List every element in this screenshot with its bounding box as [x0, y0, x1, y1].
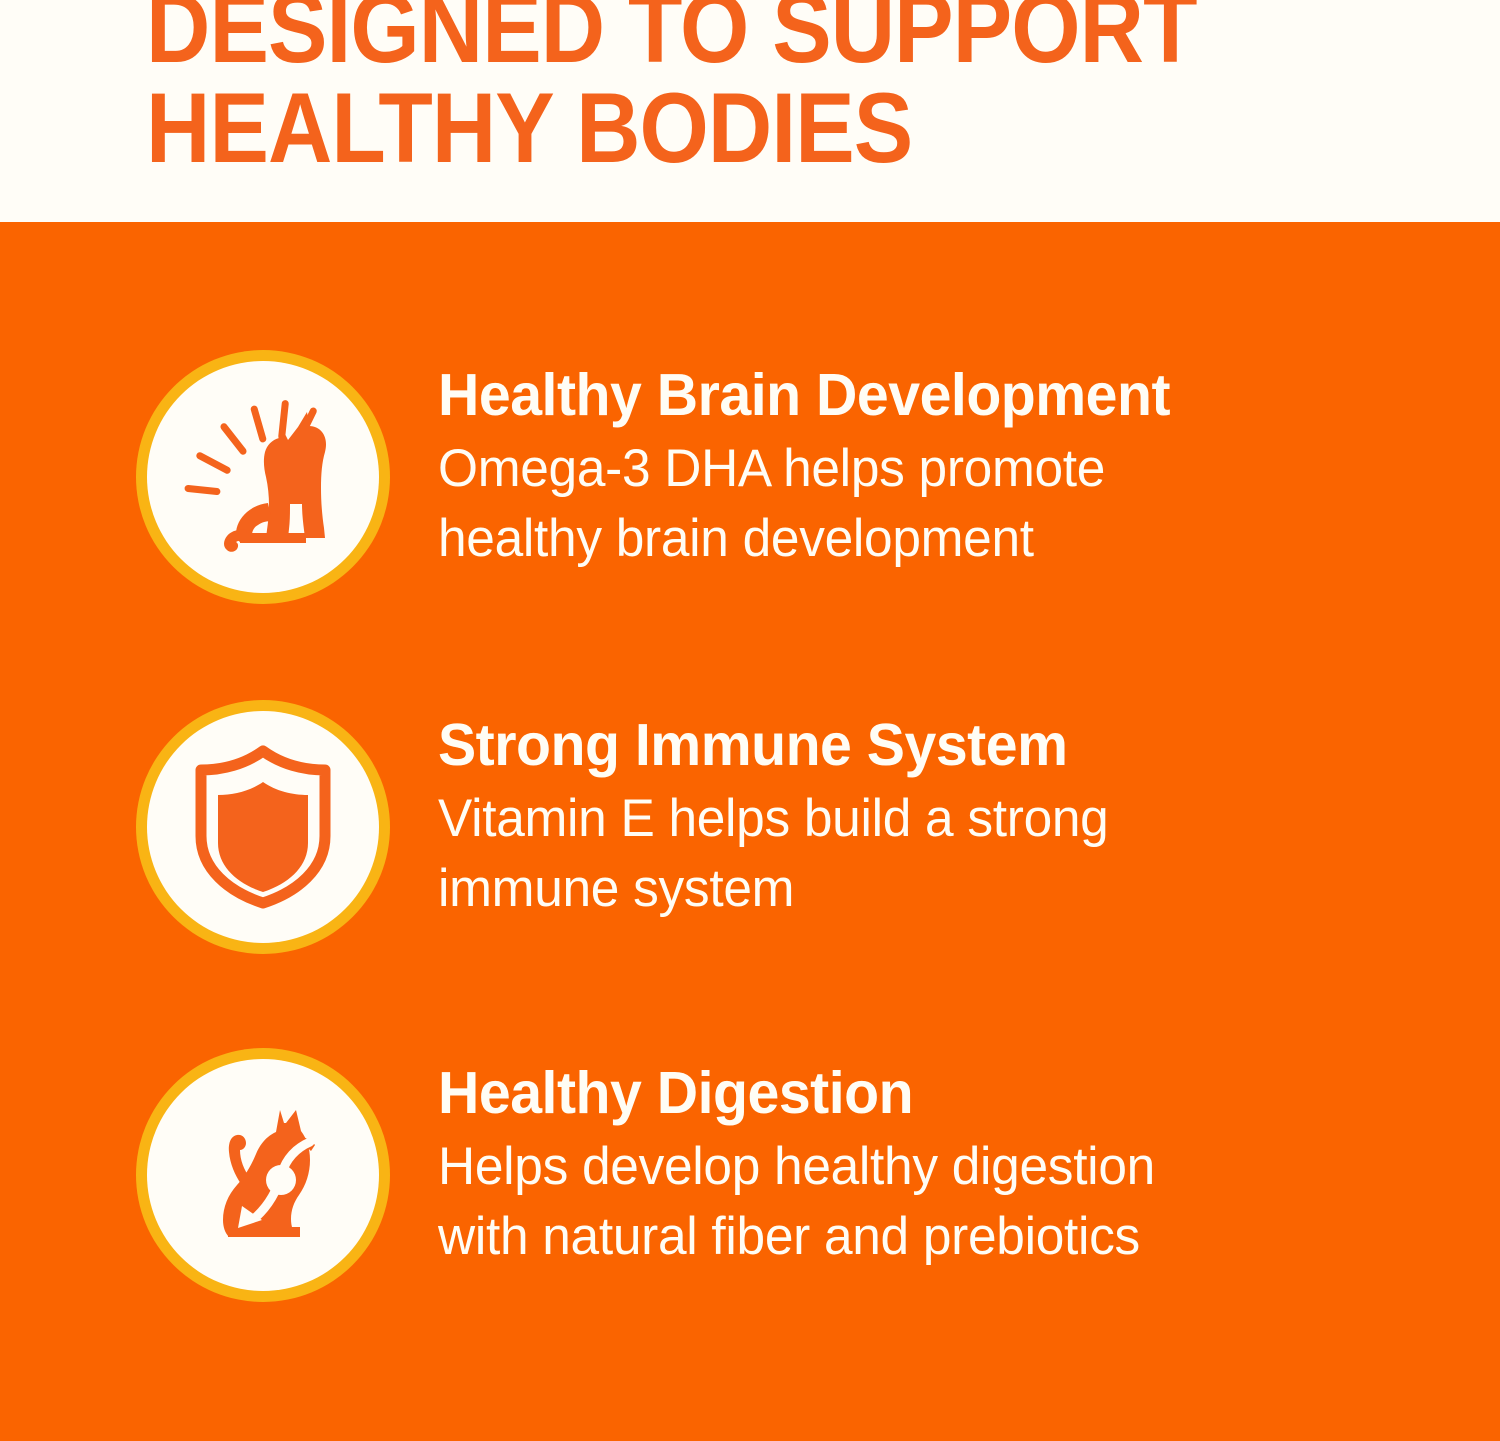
headline-band: DESIGNED TO SUPPORT HEALTHY BODIES — [0, 0, 1500, 222]
promo-panel: DESIGNED TO SUPPORT HEALTHY BODIES — [0, 0, 1500, 1441]
feature-text-brain: Healthy Brain Development Omega-3 DHA he… — [438, 362, 1448, 574]
feature-description: Vitamin E helps build a strong immune sy… — [438, 784, 1418, 924]
feature-description: Helps develop healthy digestion with nat… — [438, 1132, 1418, 1272]
feature-description: Omega-3 DHA helps promote healthy brain … — [438, 434, 1418, 574]
badge-ring-immune — [136, 700, 390, 954]
feature-title: Strong Immune System — [438, 712, 1418, 778]
cat-digestion-icon — [147, 1059, 379, 1291]
page-title: DESIGNED TO SUPPORT HEALTHY BODIES — [146, 0, 1226, 178]
feature-title: Healthy Brain Development — [438, 362, 1418, 428]
shield-icon — [147, 711, 379, 943]
feature-text-immune: Strong Immune System Vitamin E helps bui… — [438, 712, 1448, 924]
badge-ring-digestion — [136, 1048, 390, 1302]
cat-thinking-icon — [147, 361, 379, 593]
badge-ring-brain — [136, 350, 390, 604]
feature-title: Healthy Digestion — [438, 1060, 1418, 1126]
feature-text-digestion: Healthy Digestion Helps develop healthy … — [438, 1060, 1448, 1272]
